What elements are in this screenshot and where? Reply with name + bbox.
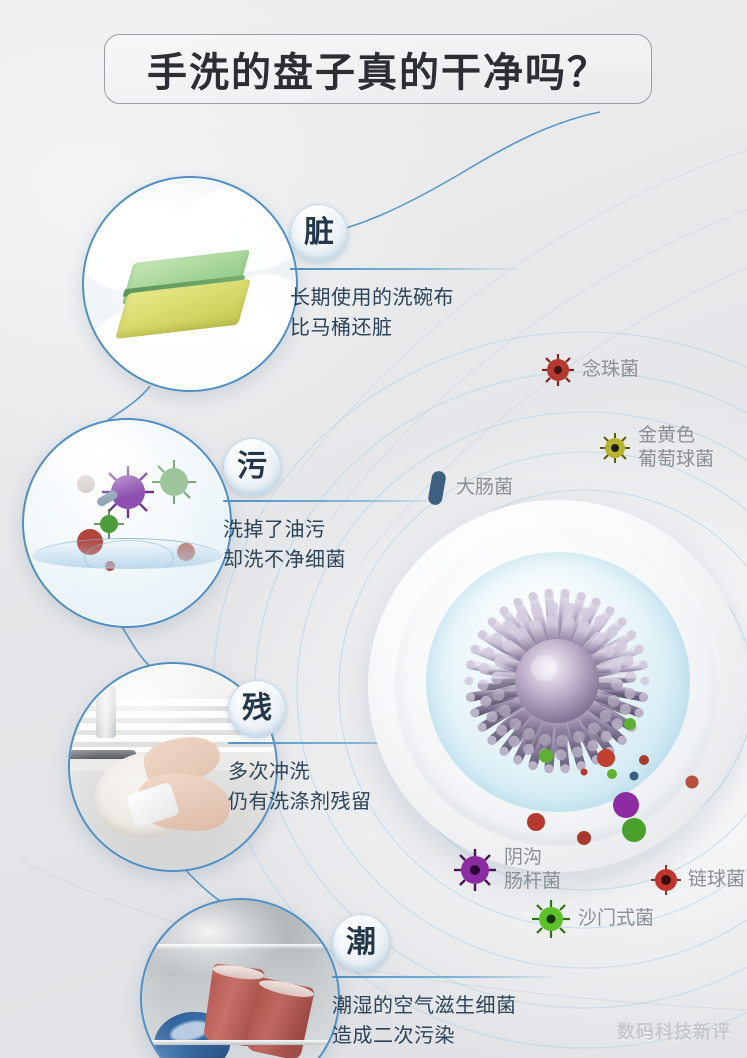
watermark: 数码科技新评	[617, 1018, 731, 1044]
germ-tiny-red-icon	[581, 769, 588, 776]
germ-green-icon	[624, 718, 636, 730]
salmonella-germ-icon	[530, 898, 572, 940]
ecoli-rod-icon	[424, 466, 450, 510]
germ-label-niandanjun: 念珠菌	[540, 352, 639, 388]
water-germs-photo	[24, 420, 230, 626]
point-description-4: 潮湿的空气滋生细菌 造成二次污染	[332, 976, 652, 1050]
point-line-1a: 长期使用的洗碗布	[290, 282, 590, 312]
point-badge-char-1: 脏	[304, 218, 334, 248]
point-rule-1	[290, 268, 524, 270]
germ-green-icon	[622, 818, 646, 842]
point-badge-2: 污	[223, 438, 281, 496]
germ-green-icon	[607, 769, 617, 779]
point-badge-char-2: 污	[237, 452, 267, 482]
enterobacter-germ-icon	[452, 847, 498, 893]
center-plate-graphic	[368, 500, 747, 872]
germ-label-jinhuangse: 金黄色 葡萄球菌	[598, 424, 714, 472]
germ-purple-icon	[613, 792, 639, 818]
point-text-4: 潮湿的空气滋生细菌 造成二次污染	[332, 990, 652, 1050]
germ-label-text: 金黄色 葡萄球菌	[638, 424, 714, 472]
germ-red-icon	[577, 831, 591, 845]
infographic-poster: 手洗的盘子真的干净吗？	[0, 0, 747, 1058]
floating-germs-group	[24, 420, 230, 626]
germ-gray-icon	[77, 475, 95, 493]
germ-label-text: 链球菌	[688, 868, 745, 892]
point-line-1b: 比马桶还脏	[290, 312, 590, 342]
point-description-1: 长期使用的洗碗布 比马桶还脏	[290, 268, 590, 342]
page-title-box: 手洗的盘子真的干净吗？	[104, 34, 652, 104]
germ-label-text: 阴沟 肠杆菌	[504, 846, 561, 894]
rack-bar	[142, 1040, 338, 1045]
germ-red-icon	[527, 813, 545, 831]
germ-red-icon	[686, 776, 699, 789]
page-title: 手洗的盘子真的干净吗？	[147, 40, 609, 98]
candida-germ-icon	[540, 352, 576, 388]
germ-label-yinggou: 阴沟 肠杆菌	[452, 846, 561, 894]
point-rule-4	[332, 976, 562, 978]
germ-label-dachangjun: 大肠菌	[424, 466, 513, 510]
plate-germs-group	[368, 500, 747, 872]
germ-label-shamen: 沙门式菌	[530, 898, 654, 940]
soap-pump	[94, 672, 121, 691]
germ-red-icon	[597, 749, 615, 767]
point-badge-4: 潮	[332, 914, 390, 972]
germ-blue-icon	[630, 772, 639, 781]
point-badge-1: 脏	[290, 204, 348, 262]
germ-label-text: 大肠菌	[456, 476, 513, 500]
germ-label-lianqiu: 链球菌	[650, 864, 745, 896]
sponge-photo	[84, 178, 296, 390]
rack-bar	[142, 944, 338, 949]
germ-green-icon	[539, 749, 553, 763]
photo-bubble-dish-rack	[140, 898, 340, 1058]
point-badge-char-3: 残	[242, 694, 272, 724]
germ-red-icon	[639, 755, 649, 765]
point-badge-3: 残	[228, 680, 286, 738]
germ-label-text: 沙门式菌	[578, 907, 654, 931]
soap-dispenser	[96, 686, 116, 738]
streptococcus-germ-icon	[650, 864, 682, 896]
point-line-4a: 潮湿的空气滋生细菌	[332, 990, 652, 1020]
point-badge-char-4: 潮	[346, 928, 376, 958]
photo-bubble-water-germs	[22, 418, 232, 628]
dish-rack-photo	[142, 900, 338, 1058]
water-ripple	[84, 540, 174, 576]
staphylococcus-germ-icon	[598, 431, 632, 465]
point-line-4b: 造成二次污染	[332, 1020, 652, 1050]
point-text-1: 长期使用的洗碗布 比马桶还脏	[290, 282, 590, 342]
germ-label-text: 念珠菌	[582, 358, 639, 382]
photo-bubble-sponge	[82, 176, 298, 392]
germ-green-icon	[152, 460, 196, 504]
